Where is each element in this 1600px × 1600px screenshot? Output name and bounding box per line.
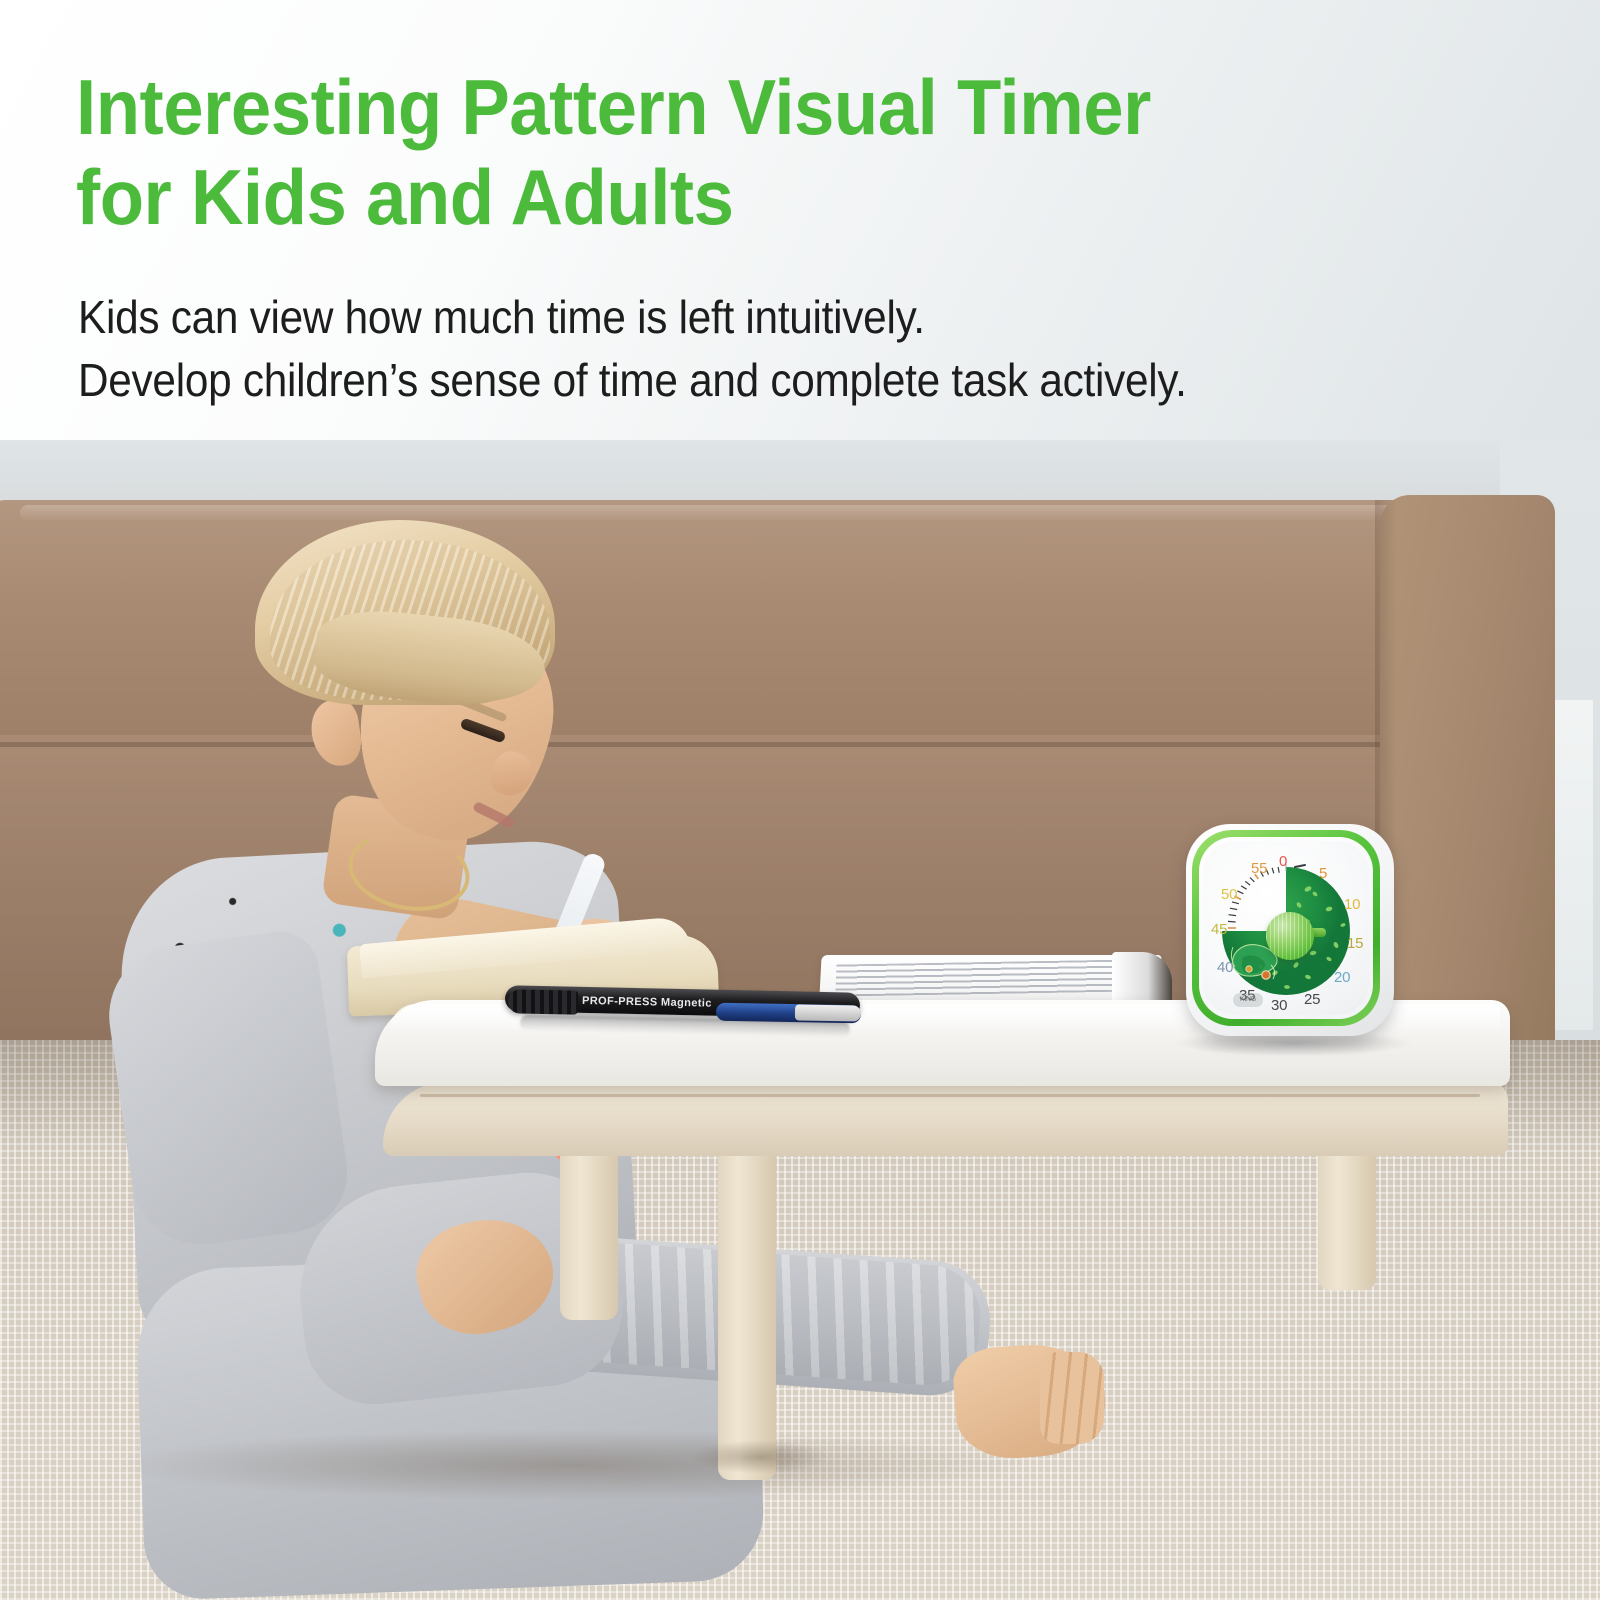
table-edge-line (420, 1094, 1480, 1097)
dial-label-25: 25 (1304, 991, 1320, 1008)
page-title: Interesting Pattern Visual Timer for Kid… (76, 62, 1434, 243)
dial-label-5: 5 (1319, 865, 1327, 882)
sofa-armrest (1380, 495, 1555, 1075)
boy-sleeve (100, 926, 355, 1253)
dial-label-40: 40 (1217, 959, 1233, 976)
dial-label-0: 0 (1279, 853, 1287, 870)
dial-label-30: 30 (1271, 997, 1287, 1014)
page-subtitle: Kids can view how much time is left intu… (78, 286, 1458, 411)
dial-label-45: 45 (1211, 921, 1227, 938)
boy-toes (1040, 1352, 1104, 1444)
header-banner: Interesting Pattern Visual Timer for Kid… (0, 0, 1600, 440)
black-marker-grip (508, 989, 578, 1014)
sofa-backrest-highlight (20, 505, 1470, 521)
dial-label-10: 10 (1344, 896, 1360, 913)
timer-brand-logo: KING (1233, 993, 1263, 1007)
blue-marker-tip (795, 1004, 861, 1021)
visual-timer-product: 0 5 10 15 20 25 30 35 40 45 50 55 KING (1182, 818, 1402, 1058)
boy-ear (308, 697, 365, 769)
timer-knob-ribs[interactable] (1266, 912, 1314, 960)
table-leg-center (718, 1150, 776, 1480)
product-marketing-image: PROF-PRESS Magnetic (0, 0, 1600, 1600)
magazine-text-lines (835, 959, 1136, 996)
dial-label-15: 15 (1347, 935, 1363, 952)
dial-label-20: 20 (1334, 969, 1350, 986)
boy-ground-shadow (120, 1430, 1020, 1500)
dial-label-55: 55 (1251, 860, 1267, 877)
table-leg-shadow (690, 1440, 830, 1474)
table-leg-left (560, 1150, 618, 1320)
dial-label-50: 50 (1221, 886, 1237, 903)
